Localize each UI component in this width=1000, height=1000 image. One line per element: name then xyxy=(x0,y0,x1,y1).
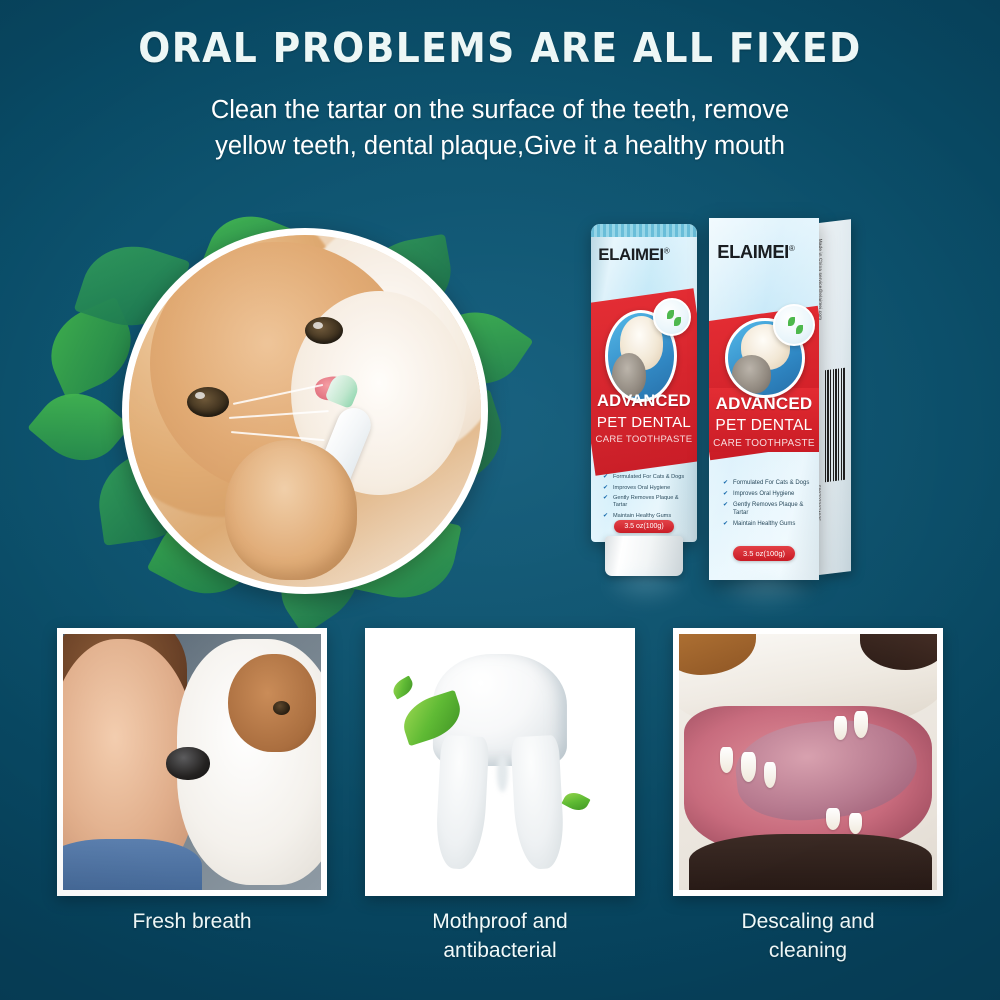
box-net-weight-badge: 3.5 oz(100g) xyxy=(733,546,795,561)
dog-nose xyxy=(166,747,210,780)
dog-eye xyxy=(273,701,290,715)
product-title-pet-dental: PET DENTAL xyxy=(709,417,819,435)
caption-antibacterial: Mothproof and antibacterial xyxy=(365,908,635,988)
leaf-icon xyxy=(389,676,416,700)
feature-item: Improves Oral Hygiene xyxy=(723,491,813,498)
benefit-captions: Fresh breath Mothproof and antibacterial… xyxy=(57,908,943,988)
white-tooth-with-mint-leaves xyxy=(371,634,629,890)
box-feature-list: Formulated For Cats & Dogs Improves Oral… xyxy=(723,480,813,532)
product-title-care-toothpaste: CARE TOOTHPASTE xyxy=(591,434,697,445)
cat-paw xyxy=(225,440,357,580)
registered-mark-icon: ® xyxy=(789,244,795,253)
woman-shirt xyxy=(63,839,202,890)
product-poster: ORAL PROBLEMS ARE ALL FIXED Clean the ta… xyxy=(0,0,1000,1000)
benefit-panels xyxy=(57,628,943,896)
caption-line: Fresh breath xyxy=(57,908,327,937)
benefit-panel-antibacterial xyxy=(365,628,635,896)
barcode-number: 5907372074935 xyxy=(819,485,821,575)
cat-eye-left xyxy=(187,387,229,417)
subtitle-line-2: yellow teeth, dental plaque,Give it a he… xyxy=(140,128,860,164)
feature-item: Maintain Healthy Gums xyxy=(723,521,813,528)
brand-logo: ELAIMEI® xyxy=(717,242,794,263)
feature-item: Improves Oral Hygiene xyxy=(603,485,689,492)
caption-fresh-breath: Fresh breath xyxy=(57,908,327,988)
caption-line: Descaling and xyxy=(673,908,943,937)
tube-feature-list: Formulated For Cats & Dogs Improves Oral… xyxy=(603,474,689,524)
mini-leaf-icon xyxy=(788,317,795,326)
tube-crimp-seal xyxy=(591,224,697,237)
feature-item: Maintain Healthy Gums xyxy=(603,513,689,520)
dog-tooth xyxy=(826,808,840,830)
product-title-advanced: ADVANCED xyxy=(709,394,819,414)
feature-item: Gently Removes Plaque & Tartar xyxy=(723,502,813,516)
brand-name: ELAIMEI xyxy=(598,246,663,264)
dog-tooth xyxy=(834,716,847,740)
box-side-panel: 5907372074935 Made in China service@elai… xyxy=(819,219,851,575)
page-title: ORAL PROBLEMS ARE ALL FIXED xyxy=(40,24,960,72)
product-box: 5907372074935 Made in China service@elai… xyxy=(709,218,819,580)
benefit-panel-descaling xyxy=(673,628,943,896)
barcode-icon xyxy=(825,368,845,482)
subtitle-line-1: Clean the tartar on the surface of the t… xyxy=(140,92,860,128)
page-subtitle: Clean the tartar on the surface of the t… xyxy=(140,92,860,164)
registered-mark-icon: ® xyxy=(664,247,670,256)
cat-photo-inner xyxy=(129,235,481,587)
product-title-advanced: ADVANCED xyxy=(591,392,697,411)
tube-net-weight-badge: 3.5 oz(100g) xyxy=(614,520,674,533)
toothpaste-tube: ELAIMEI® ADVANCED PET DENTAL CARE TOOTHP… xyxy=(591,224,697,576)
tooth-root-left xyxy=(435,735,490,871)
tube-reflection xyxy=(600,574,692,608)
caption-line: cleaning xyxy=(673,937,943,966)
brand-name: ELAIMEI xyxy=(717,242,789,262)
box-reflection xyxy=(712,578,822,612)
tooth-bubble-icon xyxy=(653,298,691,336)
dog-open-mouth-teeth-photo xyxy=(679,634,937,890)
feature-item: Formulated For Cats & Dogs xyxy=(603,474,689,481)
feature-item: Formulated For Cats & Dogs xyxy=(723,480,813,487)
dog-tooth xyxy=(741,752,756,782)
caption-line: Mothproof and xyxy=(365,908,635,937)
cat-eye-right xyxy=(305,317,343,344)
mini-leaf-icon xyxy=(796,325,803,334)
product-title-pet-dental: PET DENTAL xyxy=(591,414,697,431)
tooth-bubble-icon xyxy=(773,304,815,346)
box-front-panel: ELAIMEI® ADVANCED PET DENTAL CARE TOOTHP… xyxy=(709,218,819,580)
tube-cap xyxy=(605,536,683,576)
caption-line: antibacterial xyxy=(365,937,635,966)
mini-leaf-icon xyxy=(674,317,681,326)
dog-brown-patch xyxy=(228,654,316,751)
feature-item: Gently Removes Plaque & Tartar xyxy=(603,495,689,508)
box-side-text: Made in China service@elaimei.com xyxy=(819,239,823,360)
dog-lower-jaw xyxy=(689,834,932,890)
caption-descaling: Descaling and cleaning xyxy=(673,908,943,988)
tooth-root-right xyxy=(510,735,565,871)
mini-leaf-icon xyxy=(667,310,674,319)
product-title-care-toothpaste: CARE TOOTHPASTE xyxy=(709,438,819,449)
benefit-panel-fresh-breath xyxy=(57,628,327,896)
tooth-illustration xyxy=(433,654,567,869)
tube-body: ELAIMEI® ADVANCED PET DENTAL CARE TOOTHP… xyxy=(591,224,697,542)
dog-tooth xyxy=(720,747,733,773)
tooth-notch xyxy=(497,753,508,792)
cat-illustration xyxy=(732,355,770,393)
brand-logo: ELAIMEI® xyxy=(598,246,669,265)
cat-brushing-teeth-photo xyxy=(122,228,488,594)
cat-illustration xyxy=(612,353,646,398)
woman-with-dog-photo xyxy=(63,634,321,890)
